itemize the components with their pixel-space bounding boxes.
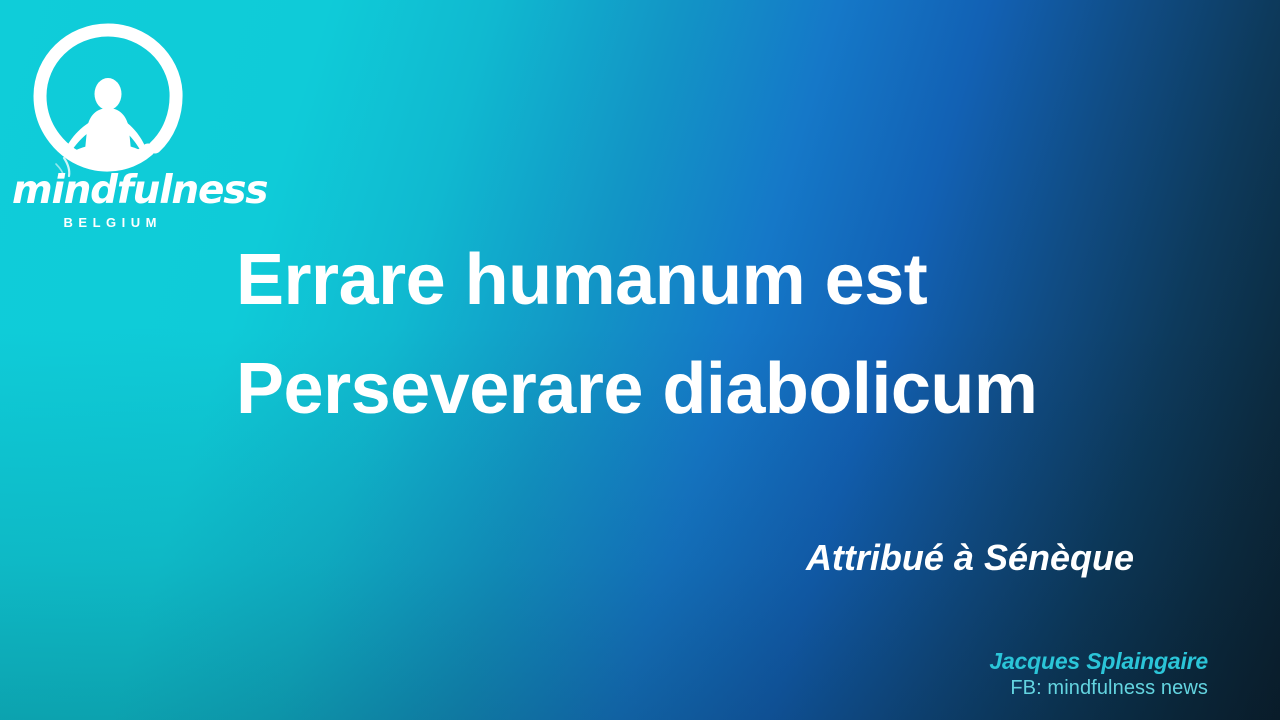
- quote-line-1: Errare humanum est: [236, 226, 1156, 335]
- logo-subtitle: BELGIUM: [12, 215, 208, 230]
- credit-author-name: Jacques Splaingaire: [0, 648, 1208, 675]
- quote-text: Errare humanum est Perseverare diabolicu…: [236, 226, 1156, 444]
- quote-line-2: Perseverare diabolicum: [236, 335, 1156, 444]
- mindfulness-belgium-logo: mindfulness BELGIUM: [12, 18, 208, 226]
- enso-circle-meditating-figure-icon: [28, 18, 188, 178]
- credits-block: Jacques Splaingaire FB: mindfulness news: [0, 648, 1208, 701]
- credit-social-handle: FB: mindfulness news: [0, 675, 1208, 701]
- quote-attribution: Attribué à Sénèque: [0, 534, 1134, 582]
- logo-wordmark: mindfulness: [12, 170, 208, 212]
- presentation-slide: mindfulness BELGIUM Errare humanum est P…: [0, 0, 1280, 720]
